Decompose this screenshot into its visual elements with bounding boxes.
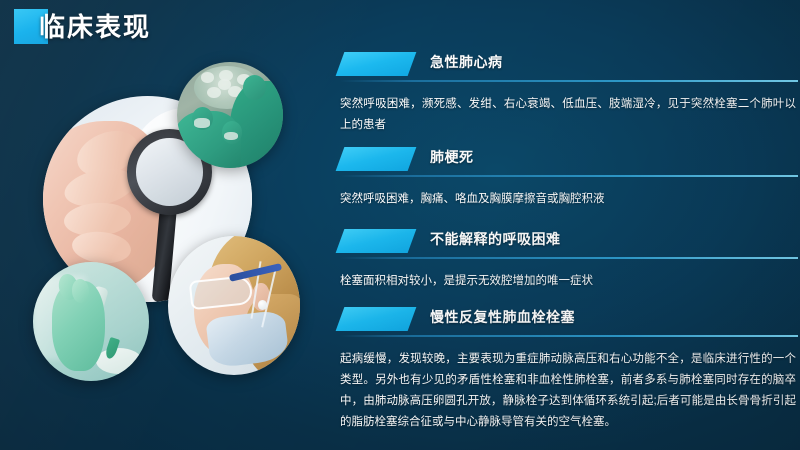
slide-root: 临床表现 bbox=[0, 0, 800, 450]
section-heading: 不能解释的呼吸困难 bbox=[430, 229, 561, 249]
section-body: 突然呼吸困难，濒死感、发绀、右心衰竭、低血压、肢端湿冷，见于突然栓塞二个肺叶以上… bbox=[340, 94, 796, 136]
page-title: 临床表现 bbox=[39, 7, 151, 44]
section-divider bbox=[340, 257, 798, 259]
section-tab-marker bbox=[336, 147, 417, 171]
section-heading: 慢性反复性肺血栓栓塞 bbox=[430, 307, 575, 327]
section-divider bbox=[340, 80, 798, 82]
section-body: 起病缓慢，发现较晚，主要表现为重症肺动脉高压和右心功能不全，是临床进行性的一个类… bbox=[340, 349, 796, 433]
section-body: 栓塞面积相对较小，是提示无效腔增加的唯一症状 bbox=[340, 271, 796, 292]
section-header: 不能解释的呼吸困难 bbox=[336, 227, 800, 255]
section-header: 慢性反复性肺血栓栓塞 bbox=[336, 305, 800, 333]
section-divider bbox=[340, 175, 798, 177]
section-heading: 急性肺心病 bbox=[430, 52, 503, 72]
photo-female-scientist-with-mask bbox=[168, 236, 300, 375]
section-body: 突然呼吸困难，胸痛、咯血及胸膜摩擦音或胸腔积液 bbox=[340, 189, 796, 210]
section-tab-marker bbox=[336, 307, 417, 331]
section-header: 急性肺心病 bbox=[336, 50, 800, 78]
surgeon-head-shape bbox=[243, 75, 266, 100]
section-header: 肺梗死 bbox=[336, 145, 800, 173]
section-tab-marker bbox=[336, 52, 417, 76]
photo-surgical-operating-room bbox=[177, 62, 283, 168]
photo-lab-pipette-gloved-hand bbox=[33, 262, 149, 381]
petri-dish-shape bbox=[96, 348, 142, 374]
photo-cluster bbox=[0, 0, 330, 450]
section-divider bbox=[340, 335, 798, 337]
section-tab-marker bbox=[336, 229, 417, 253]
section-pulmonary-infarction: 肺梗死 突然呼吸困难，胸痛、咯血及胸膜摩擦音或胸腔积液 bbox=[336, 145, 800, 210]
section-acute-cor-pulmonale: 急性肺心病 突然呼吸困难，濒死感、发绀、右心衰竭、低血压、肢端湿冷，见于突然栓塞… bbox=[336, 50, 800, 136]
section-heading: 肺梗死 bbox=[430, 147, 474, 167]
section-unexplained-dyspnea: 不能解释的呼吸困难 栓塞面积相对较小，是提示无效腔增加的唯一症状 bbox=[336, 227, 800, 292]
content-column: 急性肺心病 突然呼吸困难，濒死感、发绀、右心衰竭、低血压、肢端湿冷，见于突然栓塞… bbox=[336, 0, 800, 450]
section-chronic-recurrent-embolism: 慢性反复性肺血栓栓塞 起病缓慢，发现较晚，主要表现为重症肺动脉高压和右心功能不全… bbox=[336, 305, 800, 433]
surgical-mask-shape bbox=[194, 118, 210, 128]
